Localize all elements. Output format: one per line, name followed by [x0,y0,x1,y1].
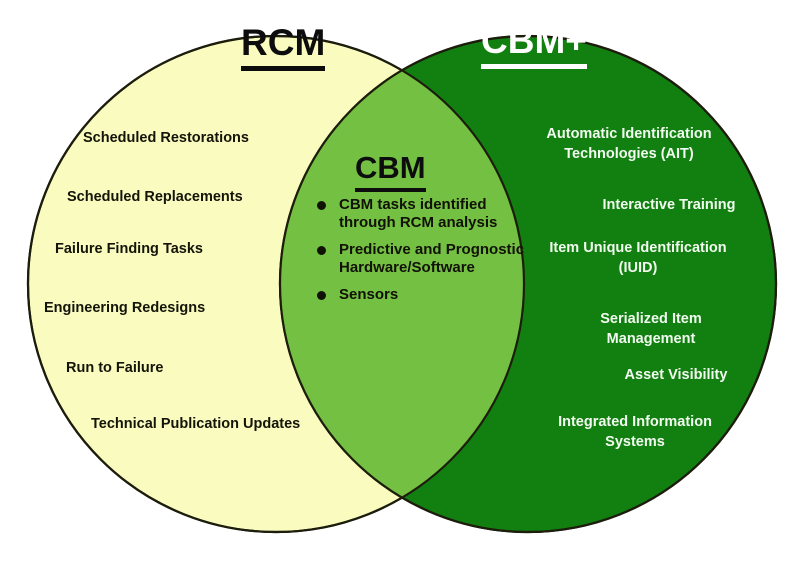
right-circle-title-text: CBM+ [481,22,587,62]
left-circle-title: RCM [241,24,325,71]
left-circle-item: Technical Publication Updates [91,416,300,433]
overlap-bullet-item: CBM tasks identified through RCM analysi… [313,196,528,232]
overlap-bullet-label: CBM tasks identified through RCM analysi… [339,196,497,231]
right-circle-item: Automatic Identification Technologies (A… [538,125,720,164]
overlap-bullet-label: Sensors [339,286,398,303]
left-circle-item: Scheduled Restorations [83,130,249,147]
right-circle-item: Serialized Item Management [560,310,742,349]
left-circle-item: Engineering Redesigns [44,300,205,317]
right-circle-item: Item Unique Identification (IUID) [547,239,729,278]
right-circle-item: Asset Visibility [585,366,767,386]
overlap-title-underline [355,188,426,192]
left-circle-title-text: RCM [241,24,325,64]
left-circle-title-underline [241,66,325,71]
venn-diagram-canvas: RCM CBM+ CBM Scheduled RestorationsSched… [0,0,800,578]
overlap-title-text: CBM [355,152,426,186]
overlap-bullet-item: Predictive and Prognostic Hardware/Softw… [313,241,528,277]
left-circle-item: Run to Failure [66,360,163,377]
overlap-bullet-list: CBM tasks identified through RCM analysi… [313,196,528,304]
bullet-dot-icon [317,246,326,255]
left-circle-item: Failure Finding Tasks [55,241,203,258]
left-circle-item: Scheduled Replacements [67,189,243,206]
overlap-title: CBM [355,152,426,192]
bullet-dot-icon [317,201,326,210]
overlap-bullet-item: Sensors [313,286,528,304]
bullet-dot-icon [317,291,326,300]
right-circle-title-underline [481,64,587,69]
right-circle-item: Integrated Information Systems [544,413,726,452]
right-circle-title: CBM+ [481,22,587,69]
right-circle-item: Interactive Training [578,196,760,216]
overlap-bullet-label: Predictive and Prognostic Hardware/Softw… [339,241,524,276]
